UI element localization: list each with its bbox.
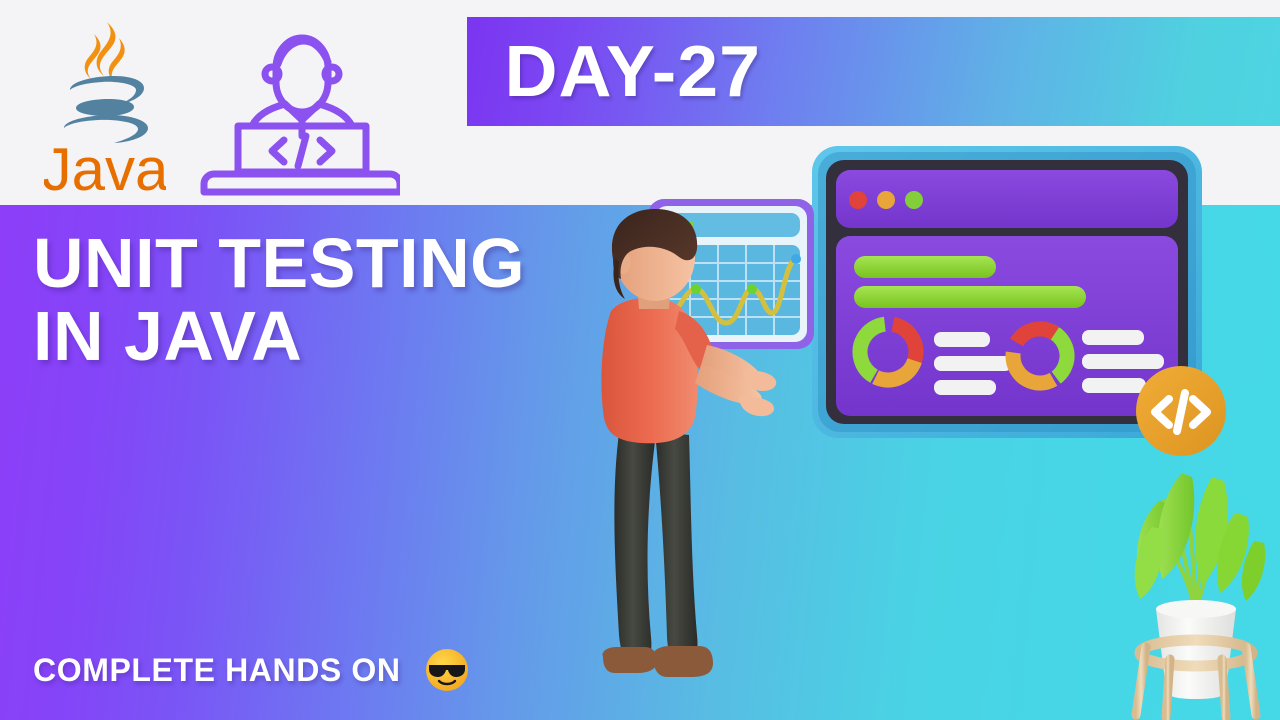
sunglasses-smiley-emoji bbox=[425, 648, 469, 692]
java-steam-icon bbox=[85, 22, 125, 83]
tagline: COMPLETE HANDS ON bbox=[33, 648, 469, 692]
hand bbox=[739, 396, 774, 416]
legend-row bbox=[1082, 330, 1144, 345]
dashboard-bar bbox=[854, 286, 1086, 308]
dashboard-bar bbox=[854, 256, 996, 278]
legend-row bbox=[934, 332, 990, 347]
leaf bbox=[1158, 473, 1195, 579]
legend-row bbox=[934, 380, 996, 395]
developer-at-laptop-icon bbox=[200, 18, 400, 196]
traffic-light-red bbox=[849, 191, 867, 209]
page-title: UNIT TESTING IN JAVA bbox=[33, 232, 633, 368]
java-wordmark: Java bbox=[44, 136, 166, 196]
code-badge-icon bbox=[1135, 365, 1227, 457]
legend-row bbox=[934, 356, 1012, 371]
title-line-2: IN JAVA bbox=[33, 305, 633, 368]
day-banner: DAY-27 bbox=[467, 17, 1280, 126]
day-label: DAY-27 bbox=[504, 36, 761, 108]
shoe bbox=[603, 647, 657, 673]
traffic-light-yellow bbox=[877, 191, 895, 209]
tagline-text: COMPLETE HANDS ON bbox=[33, 652, 401, 689]
java-logo: Java bbox=[44, 18, 166, 196]
shoe bbox=[653, 646, 713, 677]
title-line-1: UNIT TESTING bbox=[33, 232, 633, 295]
leaf bbox=[1135, 527, 1164, 599]
potted-plant-icon bbox=[1108, 415, 1280, 720]
traffic-light-green bbox=[905, 191, 923, 209]
thumbnail-canvas: Java DAY-27 bbox=[0, 0, 1280, 720]
java-cup-icon bbox=[64, 76, 148, 143]
